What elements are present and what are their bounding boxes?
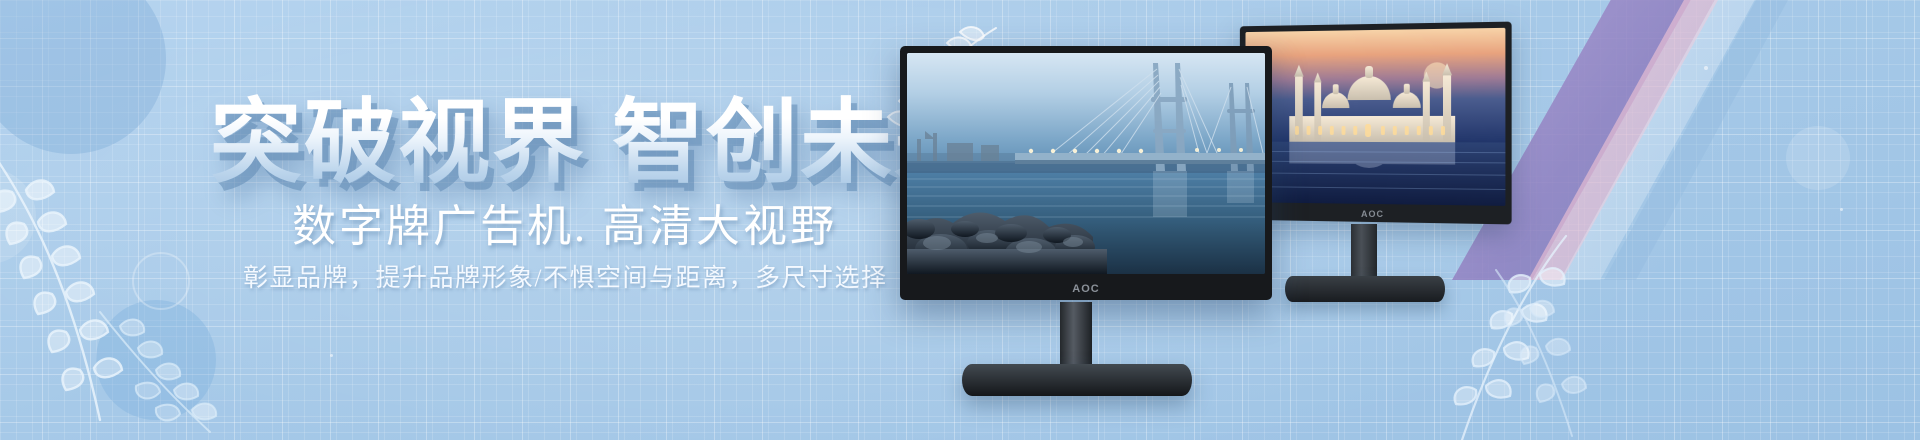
rear-monitor-screen: [1246, 28, 1506, 206]
rear-monitor-stand-neck: [1351, 224, 1377, 282]
mosque-scene-art: [1246, 28, 1506, 206]
front-monitor-stand-neck: [1060, 302, 1092, 372]
text-block: 突破视界智创未来 数字牌广告机. 高清大视野 彰显品牌，提升品牌形象/不惧空间与…: [0, 0, 900, 440]
product-images: AOC: [880, 0, 1920, 440]
sparkle-dot: [1704, 66, 1708, 70]
tagline: 彰显品牌，提升品牌形象/不惧空间与距离，多尺寸选择: [243, 258, 887, 294]
front-monitor-screen: [907, 53, 1265, 274]
rear-monitor: AOC: [1235, 24, 1510, 222]
front-monitor-bezel: AOC: [900, 46, 1272, 300]
rear-monitor-stand-base: [1285, 276, 1445, 302]
front-monitor-stand-base: [962, 364, 1192, 396]
promo-banner: 突破视界智创未来 数字牌广告机. 高清大视野 彰显品牌，提升品牌形象/不惧空间与…: [0, 0, 1920, 440]
sparkle-dot: [1840, 208, 1843, 211]
rear-monitor-bezel: [1240, 22, 1512, 225]
front-monitor-brand: AOC: [900, 283, 1272, 295]
subtitle: 数字牌广告机. 高清大视野: [292, 190, 837, 254]
bridge-scene-art: [907, 53, 1265, 274]
headline-part-1: 突破视界: [210, 92, 586, 194]
rear-monitor-brand: AOC: [1235, 209, 1510, 219]
page-title: 突破视界智创未来: [210, 68, 988, 201]
front-monitor: AOC: [900, 46, 1272, 300]
sparkle-dot: [330, 354, 333, 357]
